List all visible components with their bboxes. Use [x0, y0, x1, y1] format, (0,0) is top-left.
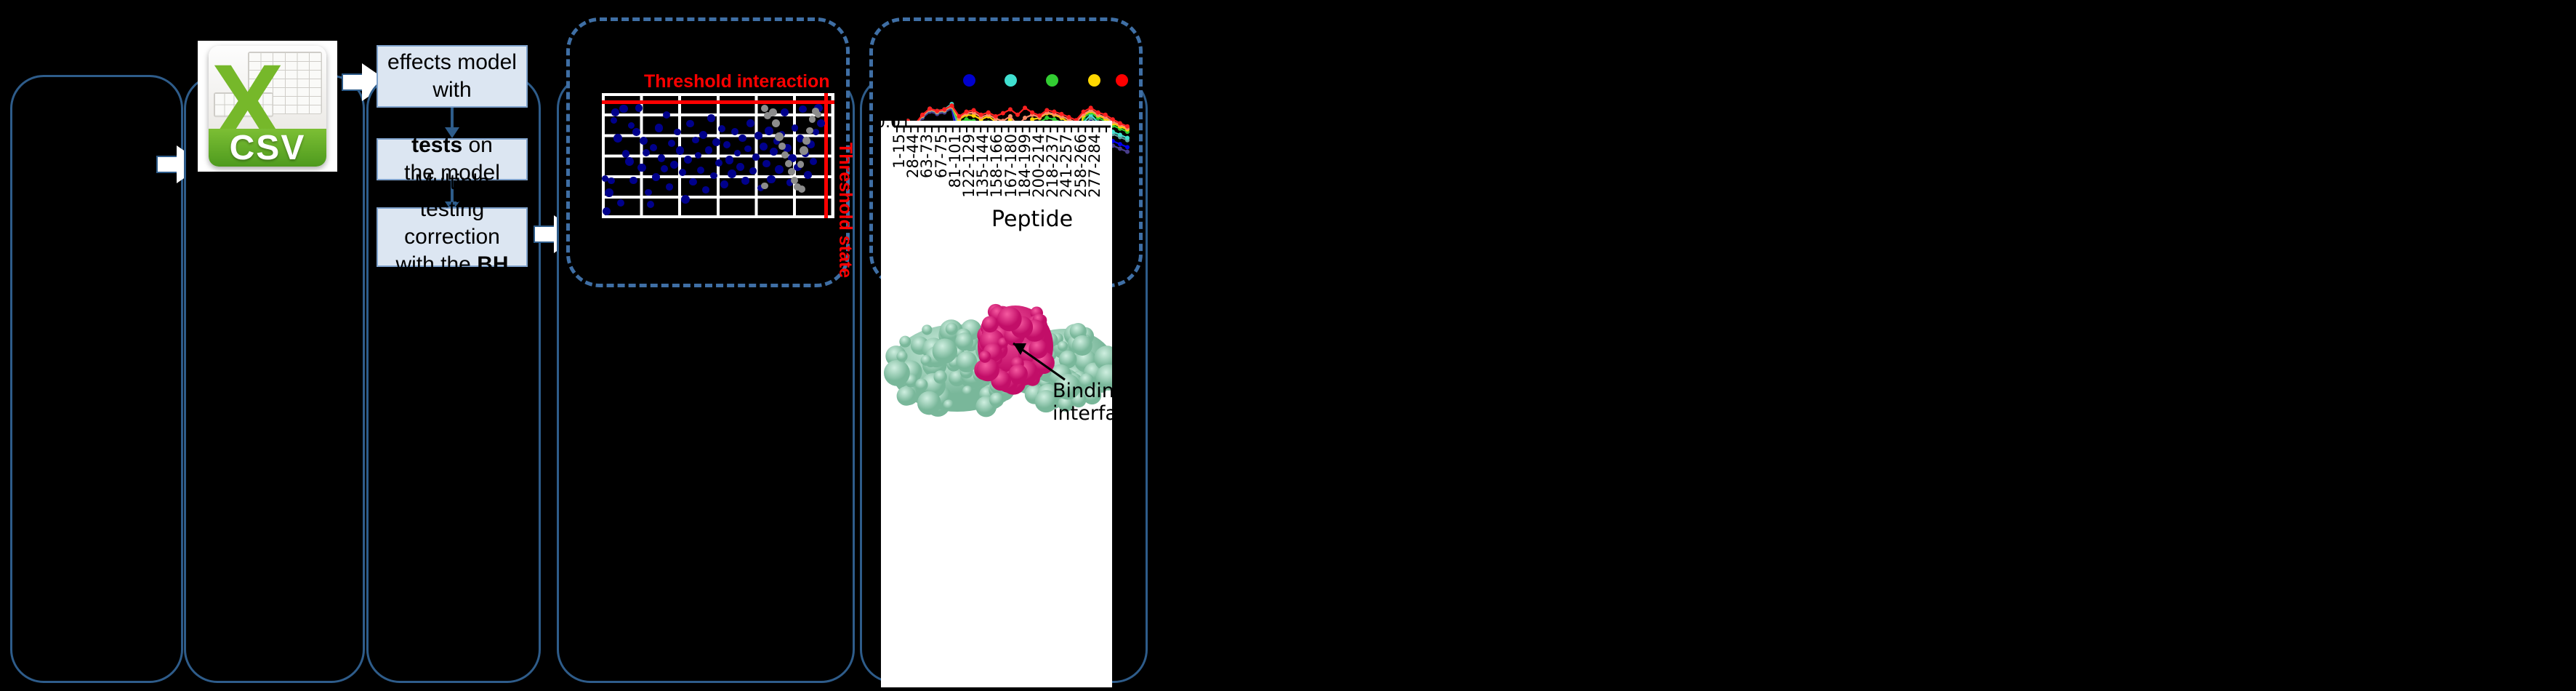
volcano-dot-layer: [602, 93, 834, 218]
volcano-point: [775, 132, 784, 141]
volcano-point: [815, 111, 821, 118]
volcano-point: [603, 207, 611, 215]
peptide-data-point: [986, 111, 991, 115]
volcano-point: [692, 137, 699, 144]
peptide-data-point: [927, 106, 932, 111]
peptide-data-point: [1001, 111, 1005, 116]
peptide-data-point: [1066, 115, 1071, 119]
peptide-data-point: [1125, 145, 1130, 149]
volcano-point: [798, 185, 805, 193]
volcano-point: [613, 134, 622, 143]
volcano-point: [728, 169, 736, 178]
t1: Fit a linear mixed-: [401, 0, 503, 47]
peptide-data-point: [1023, 116, 1027, 120]
volcano-point: [731, 128, 738, 135]
peptide-data-point: [1082, 110, 1086, 114]
volcano-point: [670, 161, 678, 169]
csv-card: X CSV: [209, 46, 326, 167]
volcano-point: [705, 146, 713, 154]
volcano-point: [781, 108, 789, 116]
volcano-point: [775, 165, 784, 174]
volcano-point: [810, 158, 817, 165]
y-axis-tick-label: 0.01: [875, 113, 911, 132]
volcano-point: [643, 149, 650, 156]
peptide-data-point: [1125, 136, 1130, 140]
volcano-point: [655, 124, 664, 132]
volcano-point: [661, 165, 668, 172]
volcano-point: [761, 105, 768, 112]
volcano-point: [720, 180, 728, 188]
volcano-plot: [602, 93, 834, 218]
csv-sheet-area: X: [209, 46, 326, 130]
volcano-point: [760, 143, 768, 151]
volcano-point: [715, 159, 723, 167]
volcano-point: [699, 131, 707, 139]
peptide-data-point: [1052, 110, 1056, 114]
t2: effects model with: [387, 50, 517, 102]
volcano-point: [749, 167, 757, 175]
volcano-point: [802, 137, 810, 144]
peptide-data-point: [1118, 132, 1122, 137]
peptide-data-point: [1008, 107, 1013, 111]
volcano-point: [681, 195, 690, 204]
threshold-state-label: Threshold state: [834, 143, 856, 278]
volcano-point: [679, 169, 686, 176]
volcano-point: [689, 178, 696, 185]
volcano-point: [752, 153, 760, 161]
volcano-point: [725, 156, 733, 164]
peptide-data-point: [994, 114, 998, 119]
volcano-point: [765, 127, 773, 135]
volcano-point: [629, 177, 637, 184]
peptide-data-point: [920, 113, 925, 117]
volcano-point: [754, 132, 762, 140]
binding-interface-label: Binding interface: [1052, 380, 1140, 425]
legend-marker: [963, 74, 975, 87]
volcano-point: [734, 150, 741, 157]
volcano-point: [770, 148, 778, 156]
t1: Apply: [396, 105, 456, 129]
threshold-interaction-label: Threshold interaction: [644, 71, 830, 92]
volcano-point: [686, 120, 694, 128]
peptide-tick-labels: 1-1528-4463-7367-7581-101122-129135-1441…: [881, 132, 1112, 199]
peptide-data-point: [1045, 108, 1049, 112]
volcano-point: [804, 171, 812, 179]
volcano-point: [635, 104, 643, 111]
volcano-point: [799, 105, 806, 113]
legend-marker: [1005, 74, 1017, 87]
volcano-point: [806, 127, 813, 135]
volcano-point: [658, 154, 665, 161]
volcano-point: [619, 105, 627, 113]
t5: procedure: [403, 280, 501, 304]
excel-x-glyph: X: [212, 48, 251, 92]
volcano-point: [792, 124, 798, 131]
csv-format-band: CSV: [209, 129, 326, 166]
peptide-data-point: [942, 107, 946, 111]
peptide-data-point: [979, 113, 983, 117]
peptide-data-point: [1089, 105, 1093, 110]
volcano-point: [611, 108, 619, 116]
volcano-point: [652, 173, 660, 181]
volcano-point: [762, 160, 770, 168]
peptide-data-point: [1118, 146, 1122, 151]
volcano-point: [676, 146, 684, 154]
legend-marker: [1046, 74, 1058, 87]
peptide-data-point: [1045, 116, 1049, 120]
peptide-data-point: [1059, 112, 1063, 116]
volcano-point: [663, 111, 670, 119]
t3: with the: [395, 252, 477, 276]
volcano-point: [736, 163, 744, 171]
volcano-point: [817, 119, 825, 127]
peptide-tick-label: 277-284: [1086, 134, 1103, 198]
legend-marker: [1116, 74, 1128, 87]
peptide-data-point: [1015, 113, 1020, 117]
volcano-point: [640, 137, 648, 145]
peptide-data-point: [957, 114, 961, 119]
volcano-point: [674, 129, 680, 135]
peptide-figure-white-box: 0.01 1-1528-4463-7367-7581-101122-129135…: [881, 121, 1112, 687]
peptide-data-point: [1023, 105, 1027, 110]
volcano-point: [605, 188, 613, 197]
peptide-data-point: [1103, 113, 1108, 117]
peptide-data-point: [1125, 124, 1130, 129]
volcano-point: [797, 161, 805, 168]
peptide-data-point: [972, 108, 976, 112]
volcano-point: [611, 117, 617, 124]
bind-line-1: Binding: [1052, 380, 1140, 402]
volcano-point: [767, 175, 776, 184]
peptide-data-point: [1008, 114, 1013, 119]
peptide-data-point: [1037, 113, 1042, 118]
volcano-point: [666, 183, 673, 191]
peptide-legend: [898, 73, 1138, 87]
peptide-data-point: [1030, 111, 1034, 115]
volcano-point: [712, 138, 720, 146]
t2: correction: [404, 225, 500, 249]
volcano-point: [702, 186, 709, 193]
volcano-point: [800, 146, 808, 155]
peptide-data-point: [949, 103, 954, 108]
volcano-point: [788, 168, 795, 175]
volcano-point: [741, 177, 749, 185]
volcano-point: [710, 172, 717, 180]
volcano-point: [608, 177, 615, 185]
volcano-point: [785, 160, 792, 167]
volcano-point: [632, 128, 640, 135]
volcano-point: [650, 144, 657, 151]
volcano-point: [684, 156, 692, 164]
volcano-point: [723, 141, 730, 148]
volcano-point: [617, 199, 624, 207]
peptide-data-point: [1125, 150, 1130, 154]
volcano-point: [647, 201, 654, 208]
volcano-point: [645, 189, 651, 196]
volcano-point: [668, 140, 675, 147]
volcano-point: [637, 164, 646, 172]
csv-format-label: CSV: [230, 128, 306, 167]
bind-line-2: interface: [1052, 402, 1140, 425]
peptide-data-point: [1118, 142, 1122, 146]
volcano-point: [813, 129, 819, 135]
volcano-point: [769, 108, 777, 116]
peptide-data-point: [1096, 111, 1100, 115]
legend-marker: [1088, 74, 1100, 87]
volcano-point: [772, 119, 780, 127]
peptide-data-point: [965, 110, 969, 114]
volcano-point: [738, 135, 746, 143]
t1: Multiple testing: [414, 170, 489, 222]
volcano-point: [625, 157, 634, 166]
t4: BH: [477, 252, 508, 276]
step-box-bh-correction[interactable]: Multiple testing correction with the BH …: [377, 207, 528, 267]
csv-file-icon: X CSV: [198, 41, 337, 172]
volcano-point: [707, 114, 716, 123]
volcano-point: [718, 125, 725, 132]
peptide-axis-title: Peptide: [991, 207, 1073, 232]
volcano-point: [746, 119, 754, 127]
step-bh-text: Multiple testing correction with the BH …: [384, 169, 520, 306]
volcano-point: [744, 145, 751, 152]
volcano-point: [695, 152, 701, 159]
peptide-data-point: [935, 109, 939, 113]
volcano-point: [697, 167, 704, 174]
peptide-data-point: [1118, 121, 1122, 125]
volcano-point: [761, 183, 768, 189]
volcano-point: [809, 116, 816, 123]
t3: on: [462, 133, 493, 157]
step-box-fit-model[interactable]: Fit a linear mixed- effects model with R…: [377, 45, 528, 108]
volcano-point: [778, 143, 786, 150]
